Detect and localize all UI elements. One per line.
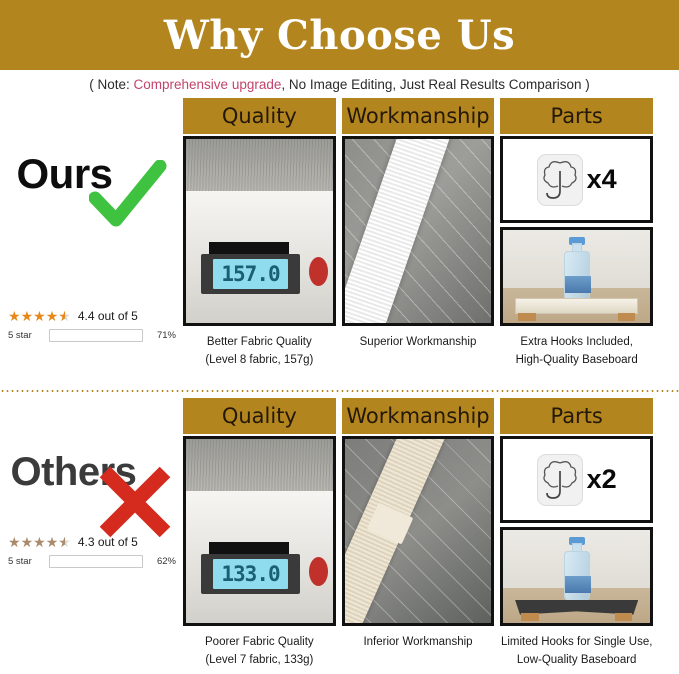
caption-line-1: Superior Workmanship <box>342 334 495 352</box>
baseboard-leg <box>521 613 539 621</box>
ours-parts-caption: Extra Hooks Included, High-Quality Baseb… <box>500 334 653 370</box>
ours-workmanship-photo <box>342 136 495 326</box>
others-workmanship-caption: Inferior Workmanship <box>342 634 495 652</box>
ours-quality-column: Quality 157.0 <box>183 98 336 386</box>
caption-line-1: Poorer Fabric Quality <box>183 634 336 652</box>
scale-lcd: 157.0 <box>213 259 289 289</box>
caption-line-1: Extra Hooks Included, <box>500 334 653 352</box>
baseboard-leg <box>518 313 536 321</box>
ours-columns: Quality 157.0 <box>183 98 679 386</box>
page-title: Why Choose Us <box>164 12 515 59</box>
others-quality-body: 133.0 <box>183 436 336 626</box>
adhesive-hook-icon <box>537 154 583 206</box>
ours-baseboard-photo <box>500 227 653 326</box>
scale-lcd: 133.0 <box>213 559 289 589</box>
column-header-workmanship: Workmanship <box>342 398 495 434</box>
others-workmanship-body <box>342 436 495 626</box>
others-scale-photo: 133.0 <box>183 436 336 626</box>
ours-rating-block: ★ ★ ★ ★ ★★ 4.4 out of 5 5 star 71% <box>8 309 176 342</box>
ours-verdict-group: Ours <box>7 150 177 250</box>
scale-dark-strip <box>209 542 288 554</box>
column-header-quality: Quality <box>183 398 336 434</box>
others-rating-value: 4.3 out of 5 <box>78 535 138 549</box>
others-quality-column: Quality 133.0 <box>183 398 336 674</box>
note-prefix: ( Note: <box>89 77 133 92</box>
ours-baseboard-plank <box>515 298 638 314</box>
scale-dark-strip <box>209 242 288 254</box>
ours-bar-track <box>49 329 143 342</box>
bottle-body <box>564 551 590 601</box>
caption-line-1: Better Fabric Quality <box>183 334 336 352</box>
half-star-icon: ★★ <box>58 535 71 549</box>
scale-power-button <box>309 557 328 586</box>
infographic-page: Why Choose Us ( Note: Comprehensive upgr… <box>0 0 679 674</box>
ours-workmanship-caption: Superior Workmanship <box>342 334 495 352</box>
caption-line-2: (Level 7 fabric, 133g) <box>183 652 336 670</box>
fabric-sample <box>186 139 333 191</box>
ours-star-rating: ★ ★ ★ ★ ★★ <box>8 309 71 323</box>
others-workmanship-photo <box>342 436 495 626</box>
scale-display-panel: 157.0 <box>201 254 301 294</box>
note-suffix: , No Image Editing, Just Real Results Co… <box>281 77 589 92</box>
ours-label-cell: Ours ★ ★ ★ ★ ★★ 4.4 out of 5 <box>0 98 183 386</box>
others-star-rating: ★ ★ ★ ★ ★★ <box>8 535 71 549</box>
others-parts-caption: Limited Hooks for Single Use, Low-Qualit… <box>500 634 653 670</box>
others-bar-label: 5 star <box>8 556 42 567</box>
others-parts-body: x2 <box>500 436 653 626</box>
others-star-bar: 5 star 62% <box>8 555 176 568</box>
scale-display-panel: 133.0 <box>201 554 301 594</box>
others-workmanship-column: Workmanship Inferior Workmanship <box>342 398 495 674</box>
star-icon: ★ <box>33 535 46 549</box>
ours-parts-column: Parts x4 <box>500 98 653 386</box>
star-icon: ★ <box>46 535 59 549</box>
ours-bar-label: 5 star <box>8 330 42 341</box>
baseboard-leg <box>618 313 636 321</box>
ours-workmanship-body <box>342 136 495 326</box>
star-icon: ★ <box>46 309 59 323</box>
ours-star-bar: 5 star 71% <box>8 329 176 342</box>
note-line: ( Note: Comprehensive upgrade, No Image … <box>0 70 679 98</box>
ours-quality-caption: Better Fabric Quality (Level 8 fabric, 1… <box>183 334 336 370</box>
comparison-row-ours: Ours ★ ★ ★ ★ ★★ 4.4 out of 5 <box>0 98 679 386</box>
others-scale-reading: 133.0 <box>221 562 279 586</box>
others-baseboard-photo <box>500 527 653 626</box>
ours-hook-count: x4 <box>587 166 617 193</box>
others-quality-caption: Poorer Fabric Quality (Level 7 fabric, 1… <box>183 634 336 670</box>
caption-line-2: Low-Quality Baseboard <box>500 652 653 670</box>
others-label-cell: Others ★ ★ ★ ★ ★★ 4.3 out of 5 <box>0 398 183 674</box>
others-stars-line: ★ ★ ★ ★ ★★ 4.3 out of 5 <box>8 535 176 549</box>
star-icon: ★ <box>21 309 34 323</box>
half-star-icon: ★★ <box>58 309 71 323</box>
section-divider <box>0 390 679 392</box>
ours-rating-value: 4.4 out of 5 <box>78 309 138 323</box>
ours-quality-body: 157.0 <box>183 136 336 326</box>
water-bottle <box>564 537 590 601</box>
red-cross-icon <box>95 464 175 545</box>
ours-hook-photo: x4 <box>500 136 653 223</box>
ours-scale-photo: 157.0 <box>183 136 336 326</box>
column-header-workmanship: Workmanship <box>342 98 495 134</box>
bottle-label <box>565 576 591 593</box>
column-header-quality: Quality <box>183 98 336 134</box>
ours-workmanship-column: Workmanship Superior Workmanship <box>342 98 495 386</box>
scale-power-button <box>309 257 328 286</box>
water-bottle <box>564 237 590 301</box>
scale-housing: 133.0 <box>186 491 333 623</box>
baseboard-leg <box>615 613 633 621</box>
header-banner: Why Choose Us <box>0 0 679 70</box>
others-hook-photo: x2 <box>500 436 653 523</box>
ours-bar-percent: 71% <box>150 330 176 341</box>
star-icon: ★ <box>8 309 21 323</box>
scale-housing: 157.0 <box>186 191 333 323</box>
column-header-parts: Parts <box>500 398 653 434</box>
column-header-parts: Parts <box>500 98 653 134</box>
adhesive-hook-icon <box>537 454 583 506</box>
ours-scale-reading: 157.0 <box>221 262 279 286</box>
star-icon: ★ <box>33 309 46 323</box>
note-accent-text: Comprehensive upgrade <box>134 77 282 92</box>
star-icon: ★ <box>21 535 34 549</box>
ours-parts-body: x4 <box>500 136 653 326</box>
others-columns: Quality 133.0 <box>183 398 679 674</box>
caption-line-1: Inferior Workmanship <box>342 634 495 652</box>
fabric-sample <box>186 439 333 491</box>
caption-line-1: Limited Hooks for Single Use, <box>500 634 653 652</box>
caption-line-2: High-Quality Baseboard <box>500 352 653 370</box>
others-rating-block: ★ ★ ★ ★ ★★ 4.3 out of 5 5 star 62% <box>8 535 176 568</box>
green-check-icon <box>89 160 167 237</box>
others-parts-column: Parts x2 <box>500 398 653 674</box>
others-bar-percent: 62% <box>150 556 176 567</box>
caption-line-2: (Level 8 fabric, 157g) <box>183 352 336 370</box>
bottle-label <box>565 276 591 293</box>
star-icon: ★ <box>8 535 21 549</box>
comparison-row-others: Others ★ ★ ★ ★ ★★ 4.3 out of 5 <box>0 398 679 674</box>
others-bar-track <box>49 555 143 568</box>
ours-stars-line: ★ ★ ★ ★ ★★ 4.4 out of 5 <box>8 309 176 323</box>
others-hook-count: x2 <box>587 466 617 493</box>
bottle-body <box>564 251 590 301</box>
